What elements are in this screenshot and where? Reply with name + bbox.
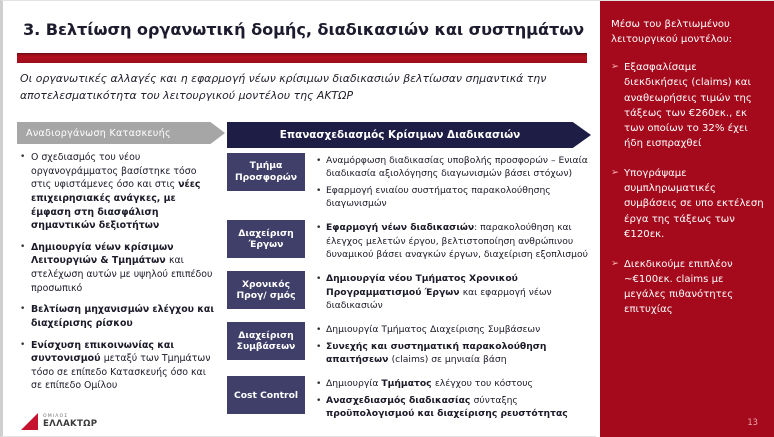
text-run: Δημιουργία <box>326 378 381 389</box>
process-bullet-item: •Ανασχεδιασμός διαδικασίας σύνταξης προϋ… <box>316 394 595 421</box>
left-bullet-text: Δημιουργία νέων κρίσιμων Λειτουργιών & Τ… <box>31 241 218 296</box>
bold-text-run: προϋπολογισμού και διαχείρισης ρευστότητ… <box>326 408 568 419</box>
right-panel-item: ➢Διεκδικούμε επιπλέον ~€100εκ. claims με… <box>611 257 764 318</box>
process-bullet-item: •Δημιουργία Τμήματος ελέγχου του κόστους <box>316 377 595 390</box>
bullet-dot-icon: • <box>20 151 31 233</box>
logo-triangle-icon <box>21 413 38 430</box>
process-row: Cost Control•Δημιουργία Τμήματος ελέγχου… <box>227 376 595 423</box>
process-row: Τμήμα Προσφορών•Αναμόρφωση διαδικασίας υ… <box>227 153 595 213</box>
page-number: 13 <box>747 417 758 427</box>
page-title: 3. Βελτίωση οργανωτική δομής, διαδικασιώ… <box>23 20 583 39</box>
banner-process-redesign-label: Επανασχεδιασμός Κρίσιμων Διαδικασιών <box>280 129 538 141</box>
company-logo: ΟΜΙΛΟΣ ΕΛΛΑΚΤΩΡ <box>21 413 97 430</box>
right-panel-item-list: ➢Εξασφαλίσαμε διεκδικήσεις (claims) και … <box>611 60 764 317</box>
text-run: σύνταξης <box>474 395 518 406</box>
bold-text-run: Τμήματος <box>381 378 434 389</box>
arrow-bullet-icon: ➢ <box>611 257 624 318</box>
left-bullet-text: Ο σχεδιασμός του νέου οργανογράμματος βα… <box>31 151 218 233</box>
process-row-label-box: Τμήμα Προσφορών <box>227 153 305 191</box>
bullet-dot-icon: • <box>316 272 326 312</box>
bullet-dot-icon: • <box>316 340 326 367</box>
text-run: Ο σχεδιασμός του νέου οργανογράμματος βα… <box>31 152 196 190</box>
title-divider-rule <box>17 53 587 63</box>
bullet-dot-icon: • <box>20 303 31 330</box>
left-bullet-item: •Ενίσχυση επικοινωνίας και συντονισμού μ… <box>20 339 218 394</box>
process-rows-list: Τμήμα Προσφορών•Αναμόρφωση διαδικασίας υ… <box>227 153 595 431</box>
process-row-bullets: •Αναμόρφωση διαδικασίας υποβολής προσφορ… <box>305 153 595 213</box>
banner-process-redesign: Επανασχεδιασμός Κρίσιμων Διαδικασιών <box>227 122 591 148</box>
process-row-bullets: •Εφαρμογή νέων διαδικασιών: παρακολούθησ… <box>305 220 595 264</box>
process-bullet-text: Δημιουργία Τμήματος Διαχείρισης Συμβάσεω… <box>326 323 595 336</box>
process-bullet-text: Εφαρμογή ενιαίου συστήματος παρακολούθησ… <box>326 184 595 211</box>
bold-text-run: Ανασχεδιασμός διαδικασίας <box>326 395 474 406</box>
bullet-dot-icon: • <box>316 184 326 211</box>
left-bullet-item: •Δημιουργία νέων κρίσιμων Λειτουργιών & … <box>20 241 218 296</box>
left-bullet-item: •Ο σχεδιασμός του νέου οργανογράμματος β… <box>20 151 218 233</box>
right-panel-item-text: Υπογράψαμε συμπληρωματικές συμβάσεις σε … <box>624 166 764 242</box>
left-bullet-item: •Βελτίωση μηχανισμών ελέγχου και διαχείρ… <box>20 303 218 330</box>
right-panel-item-text: Εξασφαλίσαμε διεκδικήσεις (claims) και α… <box>624 60 764 151</box>
process-row-label-box: Διαχείριση Έργων <box>227 220 305 258</box>
left-bullet-text: Ενίσχυση επικοινωνίας και συντονισμού με… <box>31 339 218 394</box>
process-bullet-text: Δημιουργία Τμήματος ελέγχου του κόστους <box>326 377 595 390</box>
bullet-dot-icon: • <box>20 241 31 296</box>
process-bullet-text: Αναμόρφωση διαδικασίας υποβολής προσφορώ… <box>326 154 595 181</box>
bold-text-run: Βελτίωση μηχανισμών ελέγχου και διαχείρι… <box>31 304 214 329</box>
process-row-label-box: Cost Control <box>227 376 305 414</box>
process-bullet-item: •Δημιουργία νέου Τμήματος Χρονικού Προγρ… <box>316 272 595 312</box>
bullet-dot-icon: • <box>316 221 326 261</box>
text-run: Δημιουργία Τμήματος Διαχείρισης Συμβάσεω… <box>326 324 540 335</box>
arrow-bullet-icon: ➢ <box>611 166 624 242</box>
text-run: Αναμόρφωση διαδικασίας υποβολής προσφορώ… <box>326 155 588 179</box>
bullet-dot-icon: • <box>316 154 326 181</box>
process-bullet-text: Συνεχής και συστηματική παρακολούθηση απ… <box>326 340 595 367</box>
process-row: Διαχείριση Συμβάσεων•Δημιουργία Τμήματος… <box>227 322 595 369</box>
right-panel-item-text: Διεκδικούμε επιπλέον ~€100εκ. claims με … <box>624 257 764 318</box>
left-bullet-list: •Ο σχεδιασμός του νέου οργανογράμματος β… <box>20 151 218 401</box>
bullet-dot-icon: • <box>316 377 326 390</box>
right-summary-panel: Μέσω του βελτιωμένου λειτουργικού μοντέλ… <box>596 1 774 437</box>
slide-main-content: 3. Βελτίωση οργανωτική δομής, διαδικασιώ… <box>3 1 599 437</box>
right-panel-item: ➢Υπογράψαμε συμπληρωματικές συμβάσεις σε… <box>611 166 764 242</box>
process-bullet-item: •Εφαρμογή νέων διαδικασιών: παρακολούθησ… <box>316 221 595 261</box>
bold-text-run: Εφαρμογή νέων διαδικασιών <box>326 222 474 233</box>
process-row-label-box: Διαχείριση Συμβάσεων <box>227 322 305 360</box>
process-bullet-item: •Δημιουργία Τμήματος Διαχείρισης Συμβάσε… <box>316 323 595 336</box>
bullet-dot-icon: • <box>316 394 326 421</box>
process-bullet-item: •Συνεχής και συστηματική παρακολούθηση α… <box>316 340 595 367</box>
process-row-bullets: •Δημιουργία Τμήματος Διαχείρισης Συμβάσε… <box>305 322 595 369</box>
process-row: Διαχείριση Έργων•Εφαρμογή νέων διαδικασι… <box>227 220 595 264</box>
text-run: ελέγχου του κόστους <box>435 378 533 389</box>
process-row-label-box: Χρονικός Προγ/ σμός <box>227 271 305 309</box>
bold-text-run: Δημιουργία νέων κρίσιμων Λειτουργιών & Τ… <box>31 242 174 267</box>
process-bullet-item: •Εφαρμογή ενιαίου συστήματος παρακολούθη… <box>316 184 595 211</box>
right-panel-item: ➢Εξασφαλίσαμε διεκδικήσεις (claims) και … <box>611 60 764 151</box>
text-run: (claims) σε μηνιαία βάση <box>392 354 507 365</box>
process-row-bullets: •Δημιουργία Τμήματος ελέγχου του κόστους… <box>305 376 595 423</box>
process-row: Χρονικός Προγ/ σμός•Δημιουργία νέου Τμήμ… <box>227 271 595 315</box>
bullet-dot-icon: • <box>316 323 326 336</box>
left-bullet-text: Βελτίωση μηχανισμών ελέγχου και διαχείρι… <box>31 303 218 330</box>
process-bullet-text: Ανασχεδιασμός διαδικασίας σύνταξης προϋπ… <box>326 394 595 421</box>
process-bullet-text: Εφαρμογή νέων διαδικασιών: παρακολούθηση… <box>326 221 595 261</box>
right-panel-intro: Μέσω του βελτιωμένου λειτουργικού μοντέλ… <box>611 17 764 47</box>
banner-reorganization-label: Αναδιοργάνωση Κατασκευής <box>17 128 171 139</box>
text-run: Εφαρμογή ενιαίου συστήματος παρακολούθησ… <box>326 185 551 209</box>
process-row-bullets: •Δημιουργία νέου Τμήματος Χρονικού Προγρ… <box>305 271 595 315</box>
banner-reorganization: Αναδιοργάνωση Κατασκευής <box>17 122 225 144</box>
process-bullet-item: •Αναμόρφωση διαδικασίας υποβολής προσφορ… <box>316 154 595 181</box>
logo-big-text: ΕΛΛΑΚΤΩΡ <box>43 420 97 429</box>
process-bullet-text: Δημιουργία νέου Τμήματος Χρονικού Προγρα… <box>326 272 595 312</box>
bullet-dot-icon: • <box>20 339 31 394</box>
arrow-bullet-icon: ➢ <box>611 60 624 151</box>
logo-wordmark: ΟΜΙΛΟΣ ΕΛΛΑΚΤΩΡ <box>43 415 97 428</box>
slide-canvas: 3. Βελτίωση οργανωτική δομής, διαδικασιώ… <box>0 0 774 437</box>
slide-subtitle: Οι οργανωτικές αλλαγές και η εφαρμογή νέ… <box>20 71 586 104</box>
